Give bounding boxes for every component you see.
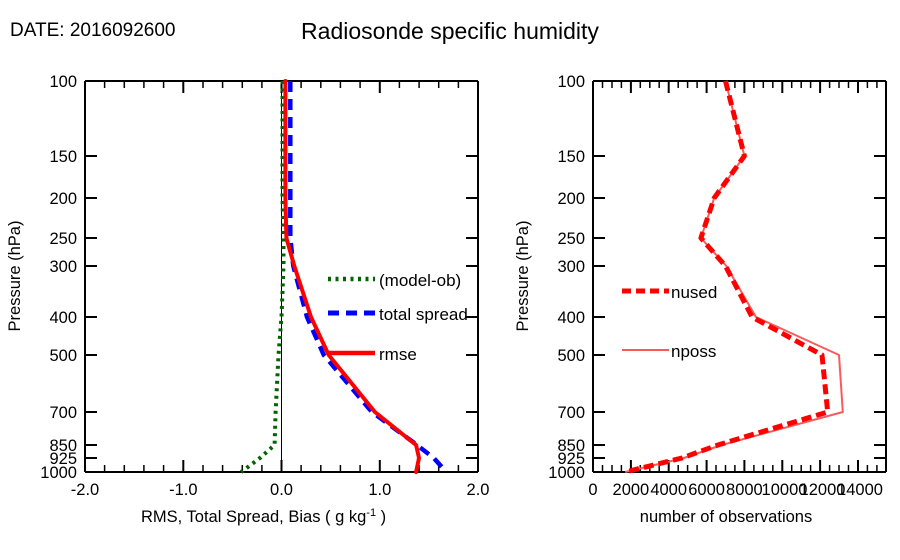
- right-xtick-label: 6000: [688, 481, 725, 499]
- left-xtick-label: 0.0: [270, 481, 293, 499]
- figure-title: Radiosonde specific humidity: [0, 18, 900, 45]
- left-x-tick-labels: -2.0 -1.0 0.0 1.0 2.0: [71, 481, 490, 499]
- right-ytick-label: 1000: [548, 464, 585, 482]
- left-xtick-label: 2.0: [467, 481, 490, 499]
- right-panel: 100 150 200 250 300 400 500 700 850 925 …: [514, 73, 886, 526]
- series-nused-line: [625, 81, 828, 472]
- left-x-axis-title-tail: ): [376, 508, 386, 526]
- figure-container: DATE: 2016092600 Radiosonde specific hum…: [0, 0, 900, 560]
- right-x-tick-labels: 0 2000 4000 6000 8000 10000 12000 14000: [588, 481, 883, 499]
- left-y-tick-labels: 100 150 200 250 300 400 500 700 850 925 …: [40, 73, 77, 482]
- svg-text:RMS, Total Spread, Bias ( g kg: RMS, Total Spread, Bias ( g kg-1 ): [141, 507, 386, 526]
- right-x-axis-title: number of observations: [640, 508, 812, 526]
- right-xtick-label: 14000: [837, 481, 883, 499]
- legend-label-model-ob: (model-ob): [379, 271, 461, 290]
- legend-label-total-spread: total spread: [379, 305, 468, 324]
- right-ytick-label: 250: [557, 230, 585, 248]
- right-y-axis-title: Pressure (hPa): [514, 221, 532, 332]
- right-ytick-label: 700: [557, 404, 585, 422]
- left-ytick-label: 1000: [40, 464, 77, 482]
- left-legend: (model-ob) total spread rmse: [328, 271, 468, 364]
- left-xtick-label: -1.0: [169, 481, 197, 499]
- right-ytick-label: 100: [557, 73, 585, 91]
- right-xtick-label: 0: [588, 481, 597, 499]
- left-xtick-label: 1.0: [368, 481, 391, 499]
- left-ytick-label: 100: [49, 73, 77, 91]
- left-ytick-label: 300: [49, 258, 77, 276]
- right-xtick-label: 2000: [613, 481, 650, 499]
- right-ytick-label: 150: [557, 148, 585, 166]
- left-panel: 100 150 200 250 300 400 500 700 850 925 …: [6, 73, 489, 526]
- left-ytick-label: 150: [49, 148, 77, 166]
- right-legend: nused nposs: [622, 283, 717, 361]
- series-nposs-line: [625, 81, 843, 472]
- series-bias-line: [241, 81, 283, 472]
- left-x-axis-title: RMS, Total Spread, Bias ( g kg-1 ): [141, 507, 386, 526]
- right-y-tick-labels: 100 150 200 250 300 400 500 700 850 925 …: [548, 73, 585, 482]
- legend-label-rmse: rmse: [379, 345, 417, 364]
- left-xtick-label: -2.0: [71, 481, 99, 499]
- left-ytick-label: 700: [49, 404, 77, 422]
- left-ytick-label: 200: [49, 190, 77, 208]
- right-ytick-label: 400: [557, 309, 585, 327]
- charts-svg: 100 150 200 250 300 400 500 700 850 925 …: [0, 0, 900, 560]
- left-ytick-label: 400: [49, 309, 77, 327]
- right-ytick-label: 300: [557, 258, 585, 276]
- right-xtick-label: 8000: [726, 481, 763, 499]
- left-ytick-label: 250: [49, 230, 77, 248]
- left-x-axis-title-main: RMS, Total Spread, Bias ( g kg: [141, 508, 366, 526]
- left-ytick-label: 500: [49, 347, 77, 365]
- legend-label-nused: nused: [671, 283, 717, 302]
- right-xtick-label: 4000: [650, 481, 687, 499]
- right-ytick-label: 500: [557, 347, 585, 365]
- left-y-axis-title: Pressure (hPa): [6, 221, 24, 332]
- right-ytick-label: 200: [557, 190, 585, 208]
- legend-label-nposs: nposs: [671, 342, 716, 361]
- left-x-axis-title-sup: -1: [366, 507, 376, 519]
